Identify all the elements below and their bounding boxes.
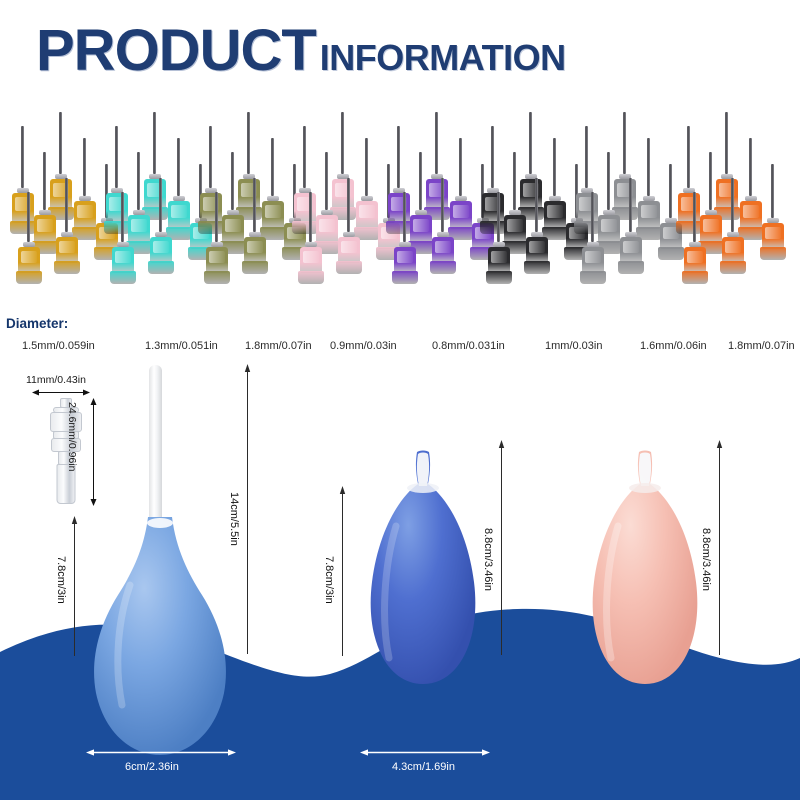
needle-shaft [215,192,218,242]
bulb-light-blue [70,365,250,765]
needle-tip-array [0,108,800,313]
bulb1-body-height-label: 7.8cm/3in [55,556,67,604]
needle-shaft [303,126,306,188]
needle-shaft [725,112,728,174]
bulb-light-blue-body [70,515,250,765]
needle-shaft [341,112,344,174]
needle-shaft [491,126,494,188]
needle-hub [128,215,150,243]
needle-shaft [253,178,256,232]
needle-shaft [629,178,632,232]
needle-hub [316,215,338,243]
needle-hub [482,193,504,223]
needle-shaft [65,178,68,232]
needle-hub [582,247,604,273]
needle-shaft [529,112,532,174]
needle-shaft [177,138,180,196]
needle-hub [722,237,744,263]
needle-hub [56,237,78,263]
needle-shaft [585,126,588,188]
needle-skirt [720,261,746,274]
needle-skirt [204,271,230,284]
bulb1-width-dimension [86,748,236,757]
needle-hub [222,215,244,243]
needle-hub [678,193,700,223]
needle-skirt [392,271,418,284]
needle-shaft [397,126,400,188]
needle-hub [638,201,660,229]
needle-shaft [731,178,734,232]
needle-hub [18,247,40,273]
needle-shaft [459,138,462,196]
needle-shaft [153,112,156,174]
product-information-poster: PRODUCTINFORMATION Diameter: 1.5mm/0.059… [0,0,800,800]
needle-shaft [121,192,124,242]
needle-shaft [693,192,696,242]
needle-skirt [486,271,512,284]
needle-hub [544,201,566,229]
diameter-value-amber: 1.5mm/0.059in [22,340,95,352]
needle-skirt [386,221,412,234]
title-information: INFORMATION [320,40,566,76]
needle-shaft [27,192,30,242]
long-white-nozzle [149,365,162,525]
needle-hub [762,223,784,249]
needle-skirt [10,221,36,234]
needle-hub [598,215,620,243]
needle-shaft [271,138,274,196]
diameter-label: Diameter: [6,316,68,331]
needle-shaft [83,138,86,196]
diameter-value-olive: 1.8mm/0.07in [245,340,312,352]
needle-skirt [148,261,174,274]
bulb1-width-label: 6cm/2.36in [125,761,179,773]
diameter-value-gray: 1.6mm/0.06in [640,340,707,352]
diameter-value-orange: 1.8mm/0.07in [728,340,795,352]
needle-skirt [298,271,324,284]
needle-hub [526,237,548,263]
diameter-value-black: 1mm/0.03in [545,340,602,352]
needle-hub [426,179,448,209]
needle-hub [394,247,416,273]
needle-skirt [682,271,708,284]
needle-hub [300,247,322,273]
diameter-value-pink: 0.9mm/0.03in [330,340,397,352]
bulb2-width-label: 4.3cm/1.69in [392,761,455,773]
needle-shaft [59,112,62,174]
needle-shaft [591,192,594,242]
needle-skirt [242,261,268,274]
needle-skirt [574,221,600,234]
needle-shaft [607,152,610,210]
needle-hub [700,215,722,243]
needle-skirt [54,261,80,274]
needle-shaft [709,152,712,210]
needle-hub [206,247,228,273]
needle-shaft [535,178,538,232]
needle-shaft [209,126,212,188]
needle-shaft [771,164,774,218]
bulb2-body-height-label: 7.8cm/3in [323,556,335,604]
needle-shaft [513,152,516,210]
needle-shaft [247,112,250,174]
needle-hub [332,179,354,209]
needle-hub [150,237,172,263]
bulb2-total-height-label: 8.8cm/3.46in [482,528,494,591]
needle-hub [200,193,222,223]
bulb2-total-height-dimension [497,440,506,655]
needle-hub [244,237,266,263]
needle-shaft [325,152,328,210]
needle-hub [262,201,284,229]
needle-hub [50,179,72,209]
needle-shaft [137,152,140,210]
needle-hub [112,247,134,273]
needle-skirt [524,261,550,274]
needle-hub [168,201,190,229]
needle-skirt [618,261,644,274]
diameter-value-purple: 0.8mm/0.031in [432,340,505,352]
needle-hub [520,179,542,209]
needle-hub [388,193,410,223]
needle-hub [144,179,166,209]
needle-shaft [309,192,312,242]
bulb-pink-body [570,448,720,748]
needle-skirt [480,221,506,234]
needle-hub [338,237,360,263]
bulb1-total-height-label: 14cm/5.5in [228,492,240,546]
needle-hub [34,215,56,243]
needle-hub [740,201,762,229]
needle-hub [238,179,260,209]
needle-shaft [441,178,444,232]
bulb-blue [348,448,498,748]
needle-skirt [110,271,136,284]
needle-hub [410,215,432,243]
needle-hub [716,179,738,209]
needle-hub [684,247,706,273]
needle-hub [620,237,642,263]
needle-skirt [676,221,702,234]
page-title: PRODUCTINFORMATION [36,22,566,80]
needle-shaft [43,152,46,210]
needle-hub [450,201,472,229]
needle-shaft [347,178,350,232]
needle-hub [74,201,96,229]
needle-shaft [623,112,626,174]
needle-hub [12,193,34,223]
needle-skirt [198,221,224,234]
needle-shaft [159,178,162,232]
bulb-pink [570,448,720,748]
needle-skirt [760,247,786,260]
needle-shaft [687,126,690,188]
title-product: PRODUCT [36,22,316,80]
needle-hub [106,193,128,223]
needle-shaft [231,152,234,210]
needle-hub [356,201,378,229]
needle-shaft [365,138,368,196]
needle-skirt [104,221,130,234]
needle-shaft [749,138,752,196]
needle-hub [432,237,454,263]
bulb2-width-dimension [360,748,490,757]
needle-shaft [419,152,422,210]
bulb3-total-height-label: 8.8cm/3.46in [700,528,712,591]
needle-shaft [403,192,406,242]
bulb1-total-height-dimension [243,364,252,654]
needle-shaft [115,126,118,188]
needle-shaft [497,192,500,242]
needle-shaft [647,138,650,196]
needle-skirt [336,261,362,274]
needle-skirt [292,221,318,234]
bulb3-total-height-dimension [715,440,724,655]
needle-shaft [435,112,438,174]
needle-shaft [553,138,556,196]
needle-skirt [580,271,606,284]
diameter-value-teal: 1.3mm/0.051in [145,340,218,352]
needle-hub [576,193,598,223]
needle-skirt [16,271,42,284]
bulb1-body-height-dimension [70,516,79,656]
bulb-blue-body [348,448,498,748]
needle-hub [294,193,316,223]
needle-cluster-orange [668,108,798,313]
needle-hub [614,179,636,209]
needle-hub [488,247,510,273]
needle-shaft [21,126,24,188]
needle-skirt [430,261,456,274]
needle-hub [504,215,526,243]
bulb2-body-height-dimension [338,486,347,656]
